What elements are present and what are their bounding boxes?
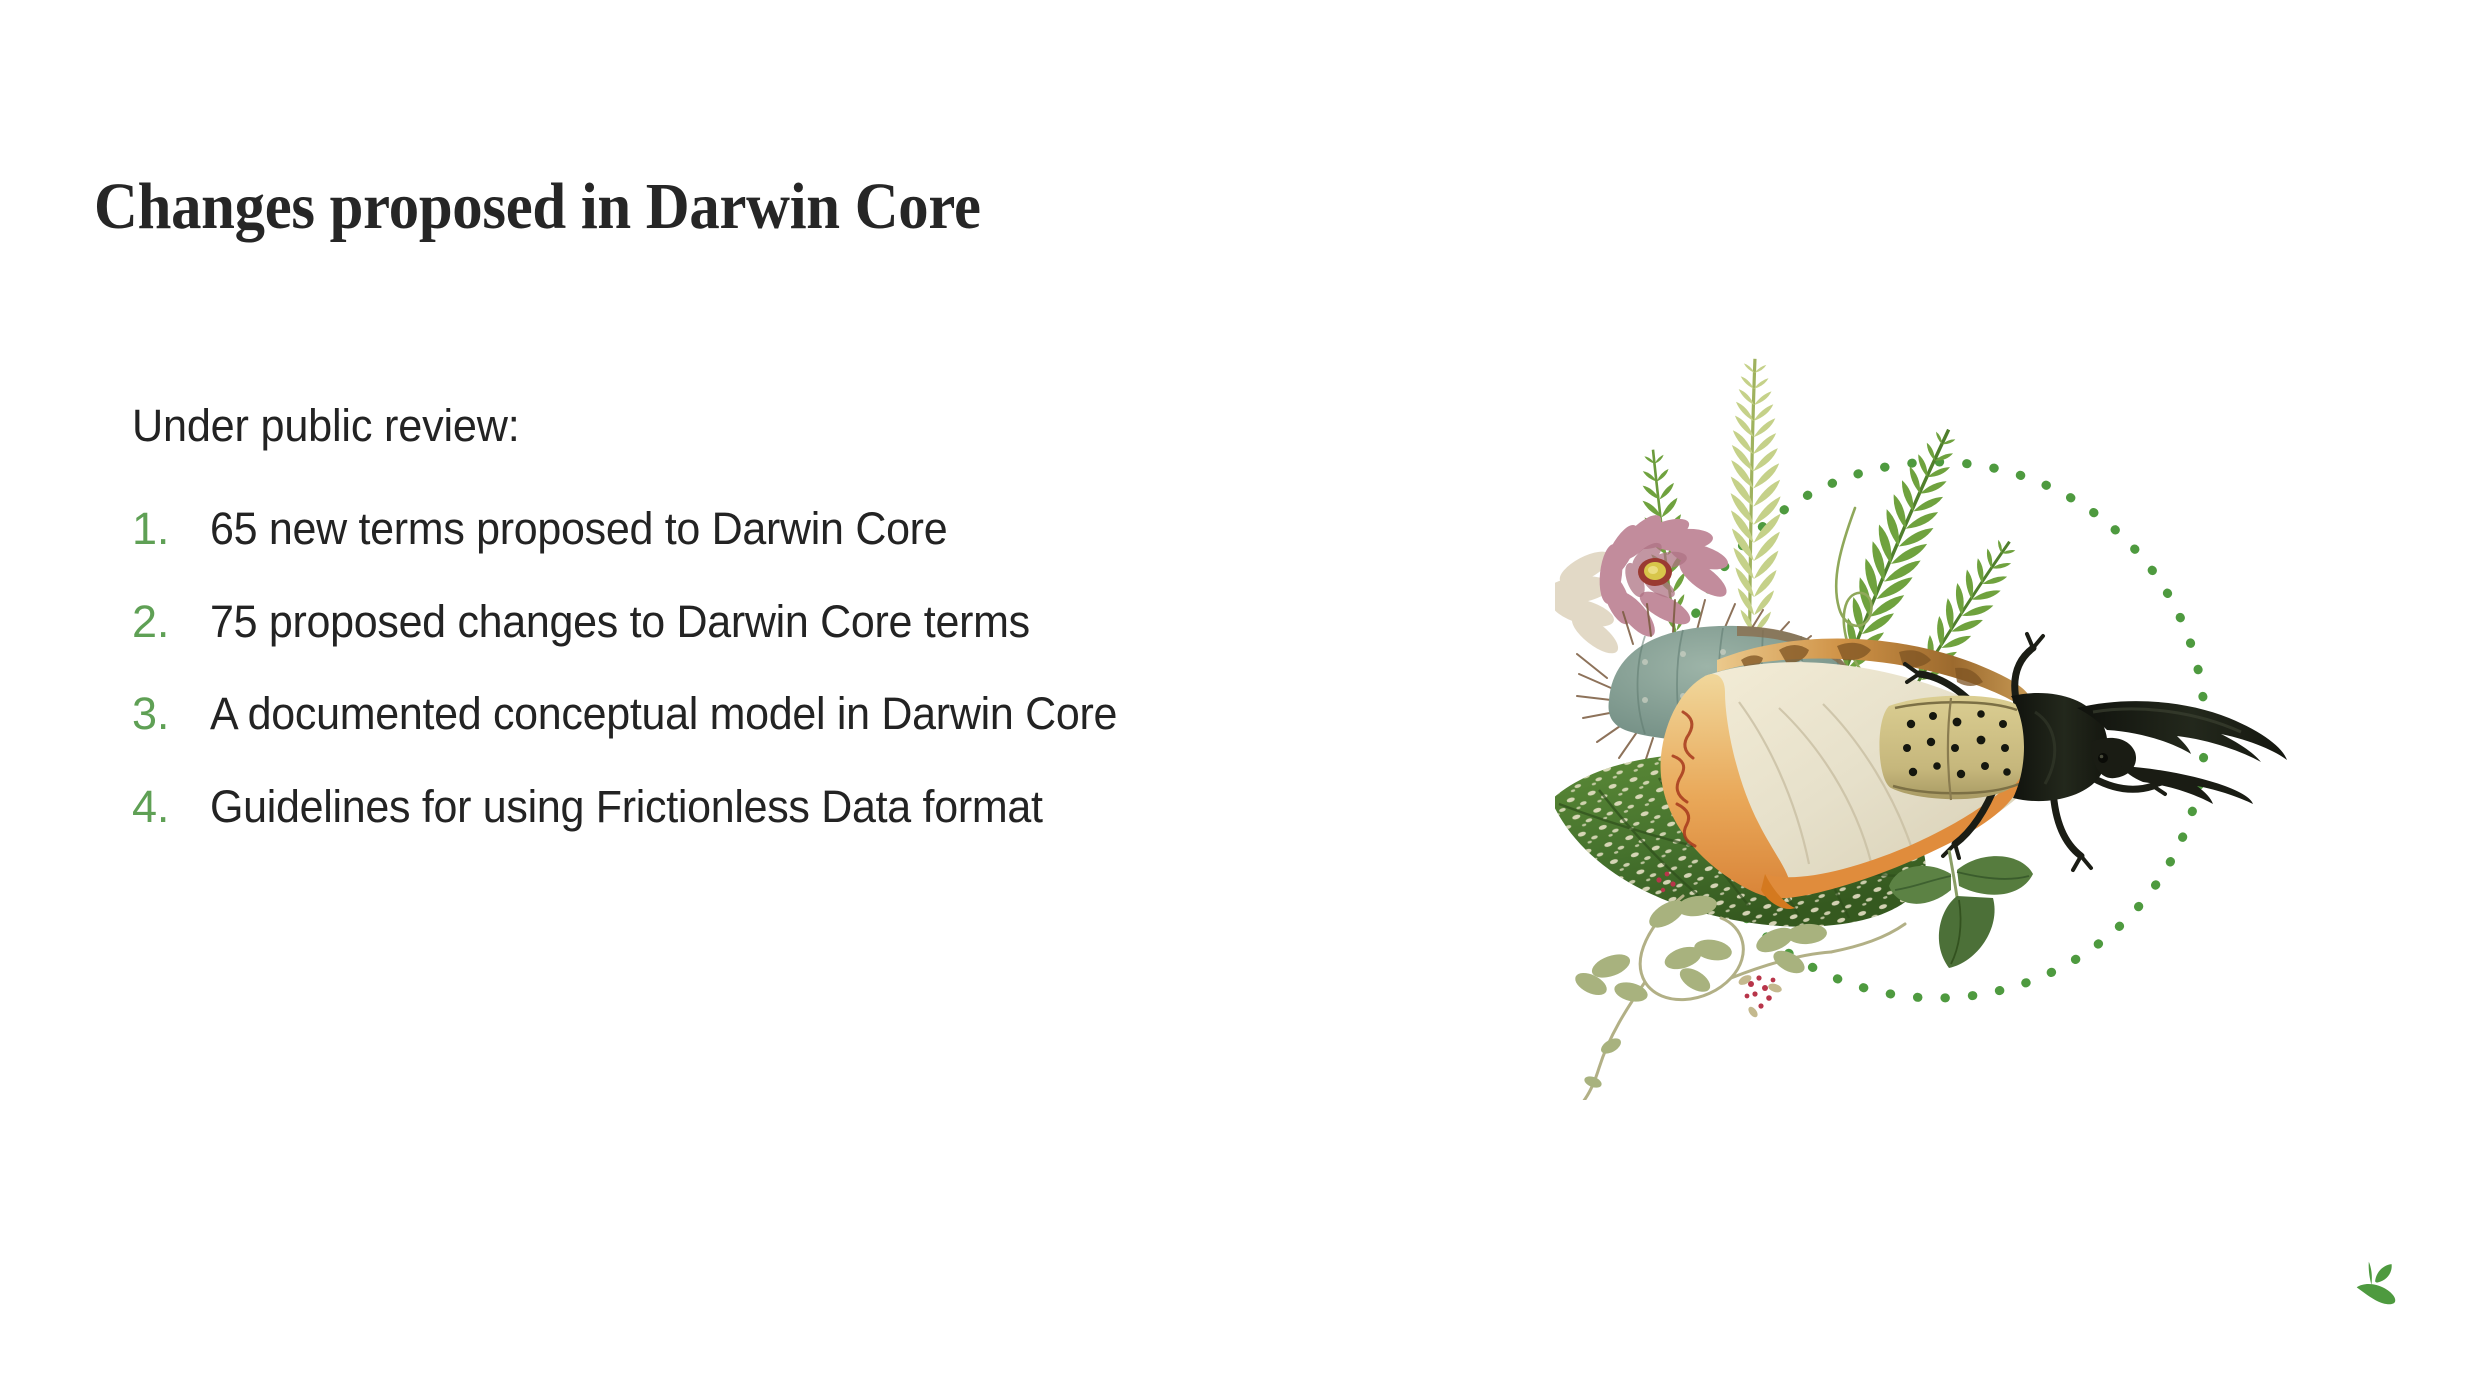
list-item: 1. 65 new terms proposed to Darwin Core bbox=[132, 500, 1382, 559]
natural-history-collage-illustration bbox=[1555, 340, 2315, 1100]
list-item-label: A documented conceptual model in Darwin … bbox=[210, 685, 1117, 744]
lead-line: Under public review: bbox=[132, 398, 1332, 454]
list-item-marker: 2. bbox=[132, 593, 210, 652]
proposed-changes-list: 1. 65 new terms proposed to Darwin Core … bbox=[132, 500, 1382, 836]
list-item: 3. A documented conceptual model in Darw… bbox=[132, 685, 1382, 744]
gbif-sprout-logo-icon bbox=[2348, 1252, 2410, 1314]
list-item-marker: 4. bbox=[132, 778, 210, 837]
page-title: Changes proposed in Darwin Core bbox=[94, 172, 981, 241]
content-block: Under public review: 1. 65 new terms pro… bbox=[132, 398, 1382, 836]
list-item-marker: 1. bbox=[132, 500, 210, 559]
list-item-label: 65 new terms proposed to Darwin Core bbox=[210, 500, 947, 559]
list-item-marker: 3. bbox=[132, 685, 210, 744]
list-item: 4. Guidelines for using Frictionless Dat… bbox=[132, 778, 1382, 837]
vine-flower-cluster bbox=[1737, 973, 1783, 1019]
leaf-sprig-icon bbox=[1889, 850, 2033, 968]
list-item-label: Guidelines for using Frictionless Data f… bbox=[210, 778, 1043, 837]
list-item: 2. 75 proposed changes to Darwin Core te… bbox=[132, 593, 1382, 652]
slide-canvas: Changes proposed in Darwin Core Under pu… bbox=[0, 0, 2480, 1395]
list-item-label: 75 proposed changes to Darwin Core terms bbox=[210, 593, 1030, 652]
